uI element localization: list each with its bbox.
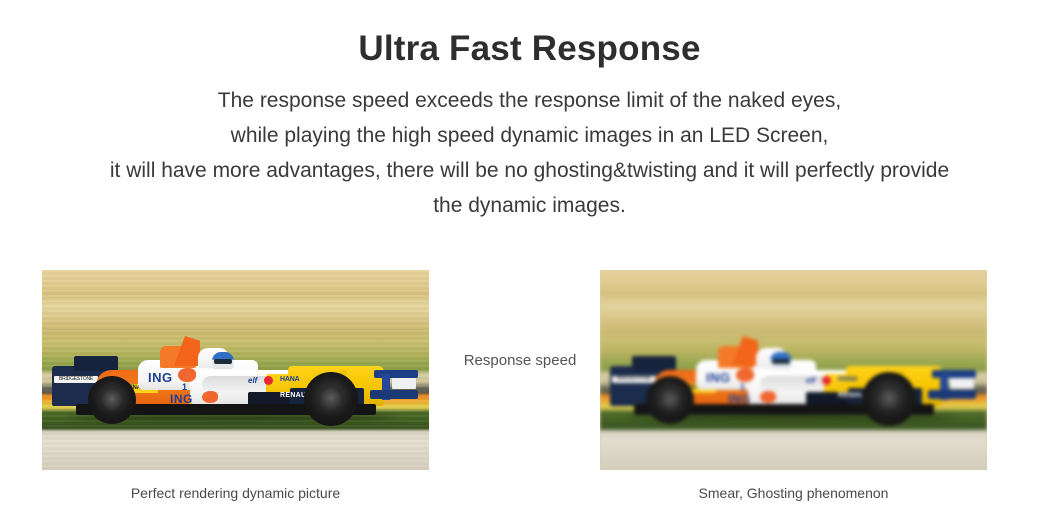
bridgestone-sticker: BRIDGESTONE [612,376,656,383]
rear-wing-lower [370,390,418,399]
renault-lion-logo-top [736,368,754,382]
elf-logo: elf [248,376,257,385]
ing-logo-top: ING [706,370,731,385]
car-number: 1 [740,382,745,392]
hana-logo: HANA [280,376,299,383]
description-line-4: the dynamic images. [0,188,1059,223]
f1-car: BRIDGESTONE RENAULT RENAULT [52,330,422,435]
description-block: The response speed exceeds the response … [0,83,1059,223]
response-speed-label: Response speed [430,352,610,369]
elf-logo-dot [264,376,273,385]
hana-logo: HANA [838,376,857,383]
caption-right: Smear, Ghosting phenomenon [600,484,987,502]
rear-wheel-hub [320,388,342,410]
caption-left: Perfect rendering dynamic picture [42,484,429,502]
description-line-2: while playing the high speed dynamic ima… [0,118,1059,153]
helmet-visor [214,359,232,364]
ultra-fast-response-section: Ultra Fast Response The response speed e… [0,0,1059,510]
elf-logo-dot [822,376,831,385]
bridgestone-sticker: BRIDGESTONE [54,376,98,383]
description-line-3: it will have more advantages, there will… [0,153,1059,188]
front-wheel-hub [660,390,680,410]
figure-perfect-rendering: BRIDGESTONE RENAULT RENAULT [42,270,429,502]
helmet-visor [772,359,790,364]
race-scene-sharp: BRIDGESTONE RENAULT RENAULT [42,270,429,470]
car-number: 1 [182,382,187,392]
front-wheel-hub [102,390,122,410]
renault-lion-logo-side [202,391,218,403]
description-line-1: The response speed exceeds the response … [0,83,1059,118]
photo-blurred-f1-car: BRIDGESTONE RENAULT RENAULT [600,270,987,470]
rear-wing-upper [374,370,418,378]
renault-lion-logo-side [760,391,776,403]
ing-logo-top: ING [148,370,173,385]
rear-wing-lower [928,390,976,399]
rear-wheel-hub [878,388,900,410]
front-wing-upper [632,356,676,371]
front-wing-upper [74,356,118,371]
rear-wing-upper [932,370,976,378]
renault-lion-logo-top [178,368,196,382]
rear-wing-white-panel [950,378,974,389]
race-scene-blurred: BRIDGESTONE RENAULT RENAULT [600,270,987,470]
elf-logo: elf [806,376,815,385]
f1-car-blurred: BRIDGESTONE RENAULT RENAULT [610,330,980,435]
page-title: Ultra Fast Response [0,28,1059,70]
rear-wing-white-panel [392,378,416,389]
figure-ghosting: BRIDGESTONE RENAULT RENAULT [600,270,987,502]
photo-sharp-f1-car: BRIDGESTONE RENAULT RENAULT [42,270,429,470]
